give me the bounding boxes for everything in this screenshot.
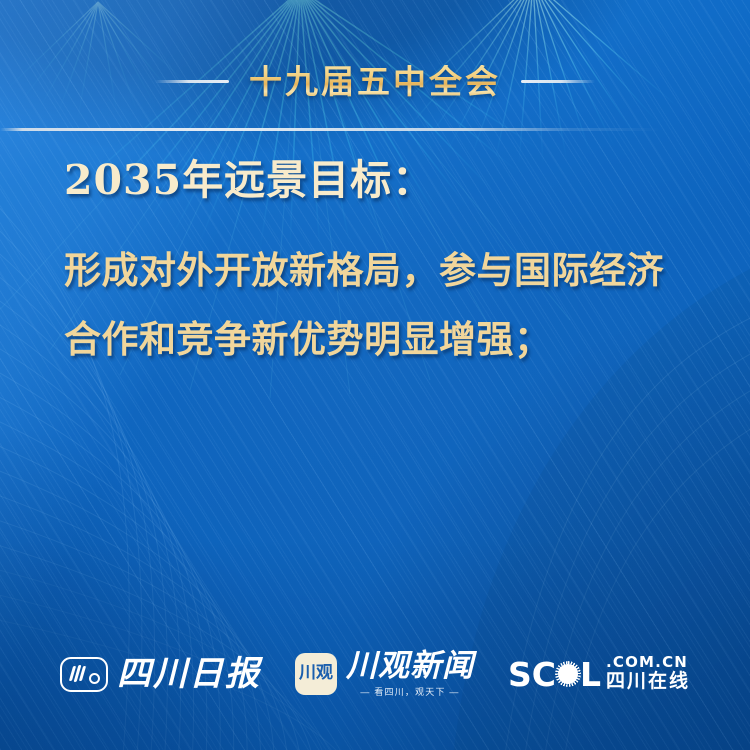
scol-domain: .COM.CN	[606, 655, 690, 671]
page-title: 2035年远景目标：	[64, 158, 694, 204]
poster-footer: 四川日报 川观 川观新闻 — 看四川，观天下 — SC L .COM.CN	[0, 646, 750, 702]
sichuan-daily-name: 四川日报	[117, 657, 261, 691]
logo-sichuan-daily: 四川日报	[60, 657, 261, 692]
logo-scol: SC L .COM.CN 四川在线	[508, 655, 690, 694]
chuanguan-news-tagline: — 看四川，观天下 —	[360, 685, 459, 698]
poster-content: 2035年远景目标： 形成对外开放新格局，参与国际经济 合作和竞争新优势明显增强…	[64, 158, 694, 390]
header-title: 十九届五中全会	[249, 65, 501, 98]
chuanguan-badge-label: 川观	[299, 665, 333, 682]
scol-wordmark: SC L	[508, 658, 601, 691]
poster-canvas: 十九届五中全会 2035年远景目标： 形成对外开放新格局，参与国际经济 合作和竞…	[0, 0, 750, 750]
scol-letter-l: L	[580, 658, 601, 691]
header-divider-right	[521, 80, 595, 83]
logo-chuanguan-news: 川观 川观新闻 — 看四川，观天下 —	[295, 650, 474, 699]
body-text-line-2: 合作和竞争新优势明显增强；	[64, 321, 694, 358]
sichuan-daily-mark-icon	[60, 657, 108, 692]
poster-header: 十九届五中全会	[0, 58, 750, 104]
sun-icon	[555, 661, 581, 687]
header-divider-left	[155, 80, 229, 83]
scol-letters-sc: SC	[508, 658, 556, 691]
scol-name-cn: 四川在线	[606, 671, 690, 693]
chuanguan-news-name: 川观新闻	[346, 650, 474, 683]
header-underline	[0, 128, 750, 131]
chuanguan-badge-icon: 川观	[295, 653, 337, 695]
body-text-line-1: 形成对外开放新格局，参与国际经济	[64, 252, 694, 289]
